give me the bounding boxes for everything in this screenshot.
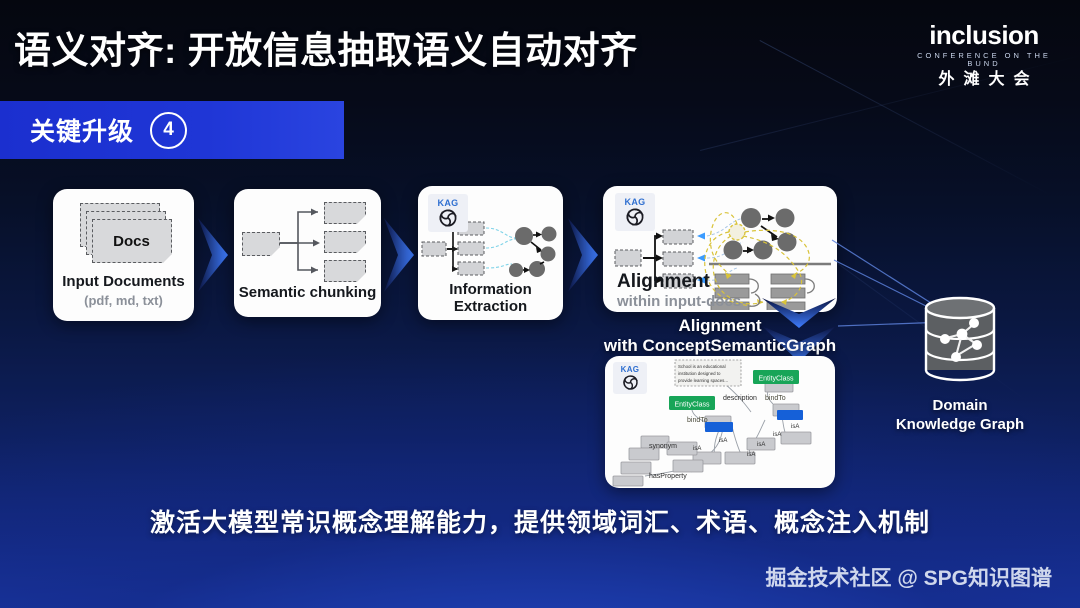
card-alignment-with-conceptsemanticgraph[interactable]: KAG (605, 356, 835, 488)
svg-text:isA: isA (693, 446, 701, 452)
arrow-chevron-3 (566, 216, 600, 294)
svg-text:isA: isA (719, 438, 727, 444)
arrow-chevron-1 (196, 216, 230, 294)
svg-text:isA: isA (791, 424, 799, 430)
svg-text:EntityClass: EntityClass (758, 376, 794, 383)
svg-text:hasProperty: hasProperty (649, 473, 687, 480)
kag-badge: KAG (428, 194, 468, 232)
svg-text:bindTo: bindTo (687, 417, 708, 424)
card-input-documents[interactable]: Docs Input Documents (pdf, md, txt) (53, 189, 194, 321)
logo-tagline: CONFERENCE ON THE BUND (910, 52, 1058, 67)
svg-text:isA: isA (773, 432, 781, 438)
output-domain-knowledge-graph[interactable]: Domain Knowledge Graph (880, 290, 1040, 435)
chunking-arrows (238, 198, 378, 284)
chunking-diagram (238, 198, 378, 284)
svg-text:description: description (723, 395, 757, 402)
logo-chinese-name: 外滩大会 (910, 72, 1058, 88)
card-subtitle-input-documents: (pdf, md, txt) (84, 294, 163, 308)
kag-swirl-icon (438, 208, 458, 228)
card-information-extraction[interactable]: KAG (418, 186, 563, 320)
card-subtitle-alignment-within: within input-docs (617, 294, 741, 311)
concept-semantic-graph-diagram: School is an educational institution des… (605, 356, 835, 488)
svg-text:institution designed to: institution designed to (678, 371, 721, 376)
svg-text:EntityClass: EntityClass (674, 402, 710, 409)
kag-badge-label: KAG (438, 199, 459, 208)
database-icon (910, 290, 1010, 390)
banner-step-number: 4 (150, 112, 187, 149)
svg-text:synonym: synonym (649, 443, 677, 450)
watermark: 掘金技术社区 @ SPG知识图谱 (766, 562, 1053, 592)
card-title-semantic-chunking: Semantic chunking (239, 285, 377, 302)
card-title-input-documents: Input Documents (62, 274, 185, 291)
logo-wordmark: inclusion (910, 22, 1058, 48)
card-title-information-extraction-line1: Information (449, 282, 532, 299)
svg-text:provide learning spaces...: provide learning spaces... (678, 378, 728, 383)
svg-text:School is an educational: School is an educational (678, 364, 726, 369)
output-caption-line-2: Knowledge Graph (880, 416, 1040, 435)
card-semantic-chunking[interactable]: Semantic chunking (234, 189, 381, 317)
docs-stack-icon: Docs (64, 201, 184, 269)
inclusion-logo: inclusion CONFERENCE ON THE BUND 外滩大会 (910, 22, 1058, 88)
card-title-information-extraction-line2: Extraction (454, 299, 527, 316)
card-alignment-within-input-docs[interactable]: KAG (603, 186, 837, 312)
output-caption-line-1: Domain (880, 397, 1040, 416)
footer-caption: 激活大模型常识概念理解能力，提供领域词汇、术语、概念注入机制 (0, 503, 1080, 539)
svg-text:isA: isA (757, 442, 765, 448)
svg-text:bindTo: bindTo (765, 395, 786, 402)
banner-label: 关键升级 (30, 112, 134, 148)
key-upgrade-banner: 关键升级 4 (0, 101, 344, 159)
card-title-alignment-within: Alignment (617, 271, 710, 292)
slide-root: 语义对齐: 开放信息抽取语义自动对齐 inclusion CONFERENCE … (0, 0, 1080, 608)
page-title: 语义对齐: 开放信息抽取语义自动对齐 (14, 20, 638, 74)
arrow-chevron-2 (382, 216, 416, 294)
docs-label: Docs (113, 233, 150, 250)
svg-text:isA: isA (747, 452, 755, 458)
